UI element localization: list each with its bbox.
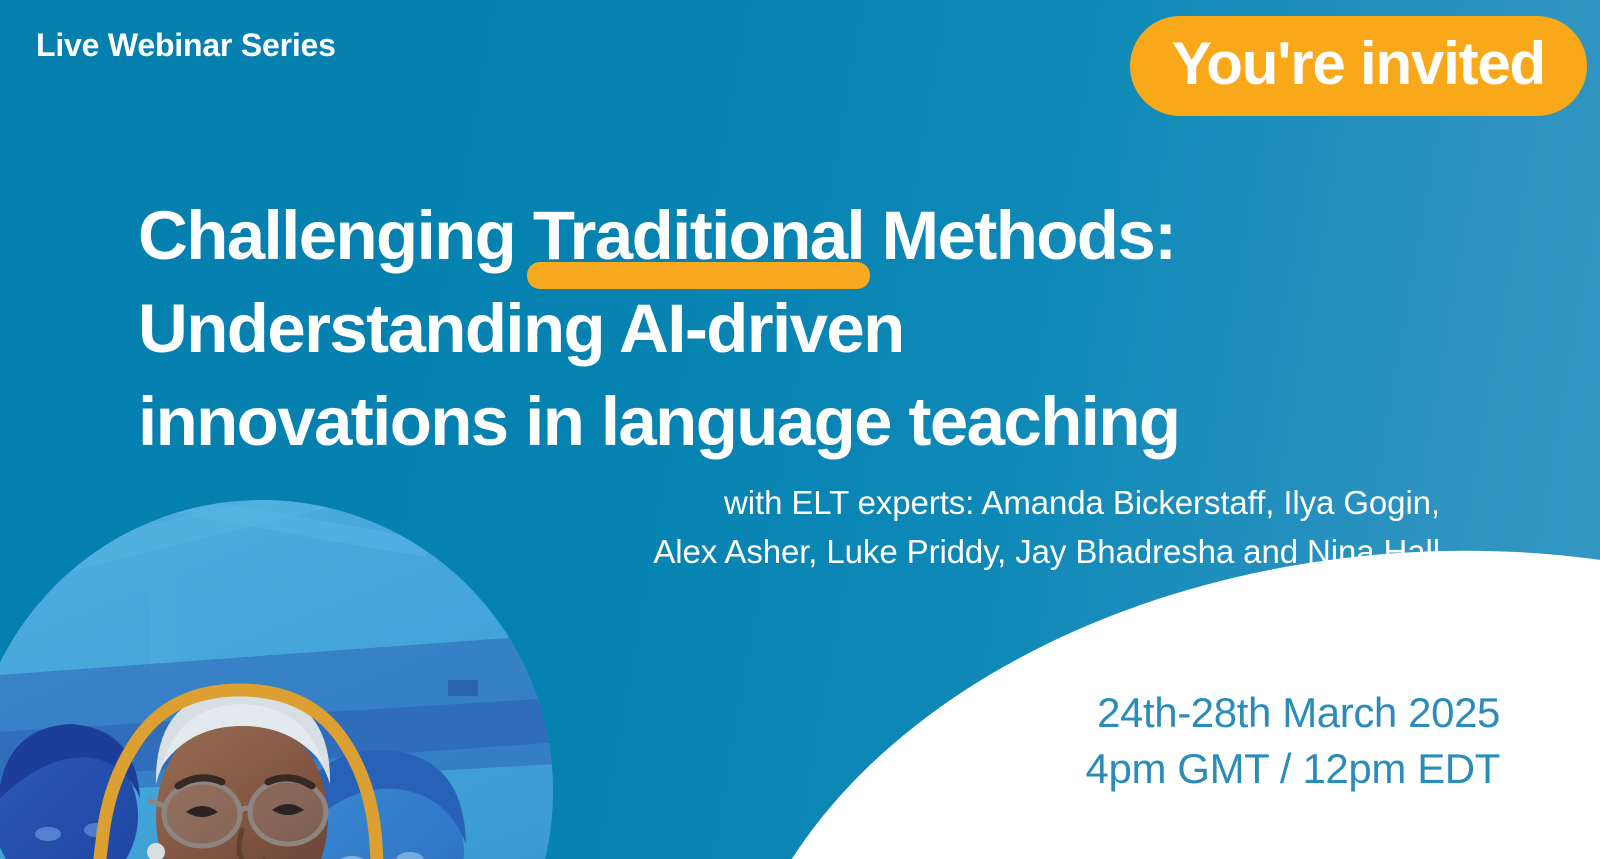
schedule-times: 4pm GMT / 12pm EDT (1086, 741, 1500, 797)
schedule-block: 24th-28th March 2025 4pm GMT / 12pm EDT (1086, 685, 1500, 797)
youre-invited-badge[interactable]: You're invited (1130, 16, 1587, 116)
headline-line-3: innovations in language teaching (138, 375, 1179, 468)
speakers-subtitle: with ELT experts: Amanda Bickerstaff, Il… (0, 478, 1440, 576)
page-title: Challenging Traditional Methods: Underst… (138, 189, 1179, 468)
speakers-line-1: with ELT experts: Amanda Bickerstaff, Il… (0, 478, 1440, 527)
headline-line-1: Challenging Traditional Methods: (138, 189, 1179, 282)
headline-highlight-word: Traditional (533, 189, 864, 282)
headline-line-2: Understanding AI-driven (138, 282, 1179, 375)
webinar-promo-banner: Live Webinar Series You're invited Chall… (0, 0, 1600, 859)
eyebrow-label: Live Webinar Series (36, 27, 336, 64)
speakers-line-2: Alex Asher, Luke Priddy, Jay Bhadresha a… (0, 527, 1440, 576)
headline-line-1-suffix: Methods: (864, 197, 1175, 274)
headline-line-1-prefix: Challenging (138, 197, 533, 274)
schedule-dates: 24th-28th March 2025 (1086, 685, 1500, 741)
youre-invited-label: You're invited (1172, 34, 1545, 94)
